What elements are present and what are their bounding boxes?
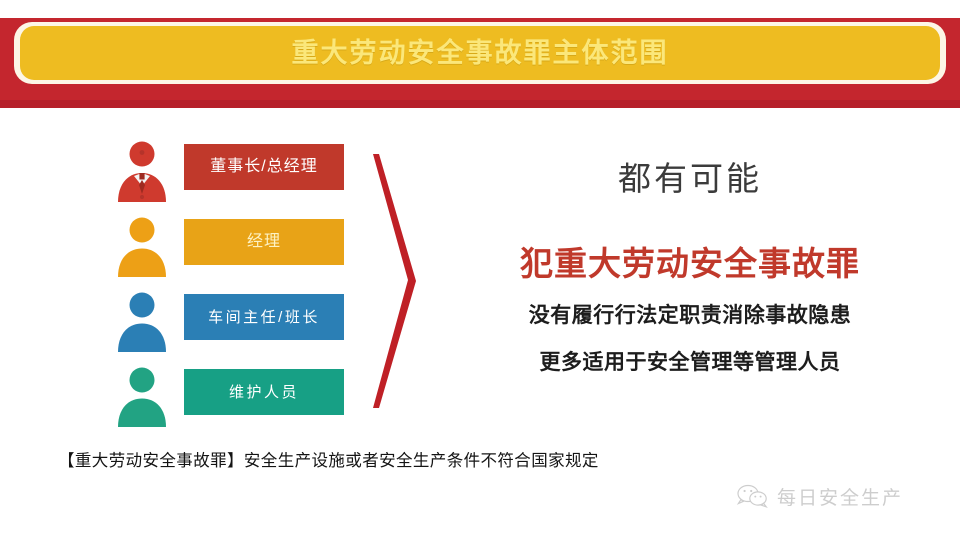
role-label: 董事长/总经理: [210, 159, 317, 175]
roster-row[interactable]: 经理: [104, 211, 354, 286]
role-box: 车间主任/班长: [184, 294, 344, 340]
conclusion-block: 都有可能 犯重大劳动安全事故罪 没有履行行法定职责消除事故隐患 更多适用于安全管…: [440, 150, 940, 373]
headline-text: 犯重大劳动安全事故罪: [440, 247, 940, 280]
roster-list: 董事长/总经理 经理 车间主任/: [104, 136, 354, 436]
person-icon: [112, 365, 172, 427]
person-icon: [112, 215, 172, 277]
roster-row[interactable]: 车间主任/班长: [104, 286, 354, 361]
header-band-shadow: [0, 100, 960, 108]
roster-row[interactable]: 维护人员: [104, 361, 354, 436]
footnote-caption: 【重大劳动安全事故罪】安全生产设施或者安全生产条件不符合国家规定: [58, 452, 599, 472]
person-suit-tie-icon: [112, 140, 172, 202]
watermark: 每日安全生产: [736, 484, 903, 513]
slide-canvas: 重大劳动安全事故罪主体范围 董事长/总经理: [0, 0, 960, 540]
watermark-text: 每日安全生产: [777, 489, 903, 508]
subline-1: 没有履行行法定职责消除事故隐患: [440, 305, 940, 326]
role-box: 经理: [184, 219, 344, 265]
role-box: 维护人员: [184, 369, 344, 415]
header-banner: 重大劳动安全事故罪主体范围: [20, 26, 940, 80]
role-label: 维护人员: [229, 385, 299, 400]
role-label: 经理: [247, 234, 281, 250]
kicker-text: 都有可能: [440, 162, 940, 195]
person-icon: [112, 290, 172, 352]
page-title: 重大劳动安全事故罪主体范围: [292, 40, 669, 67]
roster-row[interactable]: 董事长/总经理: [104, 136, 354, 211]
role-box: 董事长/总经理: [184, 144, 344, 190]
wechat-icon: [736, 484, 768, 513]
subline-2: 更多适用于安全管理等管理人员: [440, 352, 940, 373]
role-label: 车间主任/班长: [208, 310, 320, 325]
